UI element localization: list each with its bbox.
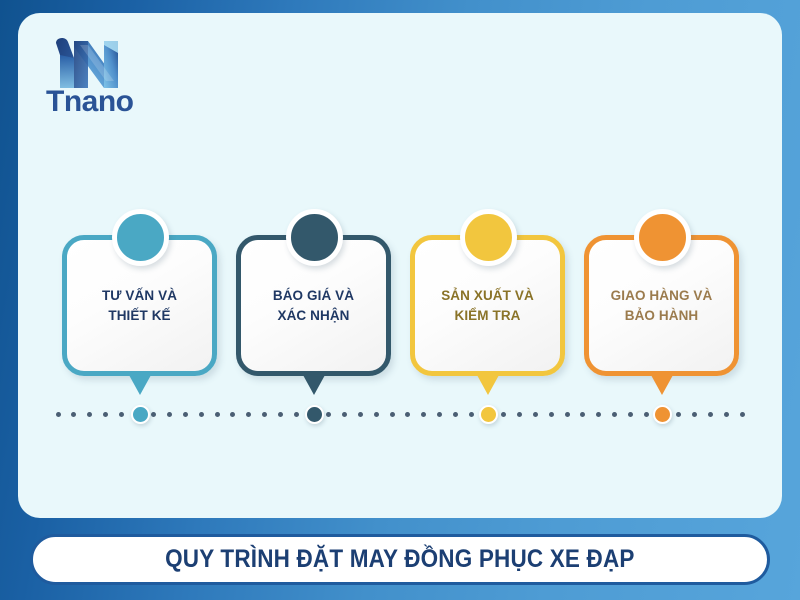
timeline-dot bbox=[278, 412, 283, 417]
timeline-dot bbox=[596, 412, 601, 417]
timeline-dot bbox=[183, 412, 188, 417]
timeline-dot bbox=[56, 412, 61, 417]
timeline-node-4[interactable] bbox=[653, 405, 672, 424]
steps-row: TƯ VẤN VÀ THIẾT KẾ BÁO GIÁ VÀ XÁC NHẬN S… bbox=[18, 13, 782, 518]
step-marker-circle-4 bbox=[634, 209, 691, 266]
timeline-dot bbox=[676, 412, 681, 417]
infographic-canvas: Tnano TƯ VẤN VÀ THIẾT KẾ BÁO GIÁ VÀ XÁC … bbox=[0, 0, 800, 600]
timeline-dot bbox=[644, 412, 649, 417]
timeline-dot bbox=[708, 412, 713, 417]
timeline-dot bbox=[469, 412, 474, 417]
timeline-dot bbox=[437, 412, 442, 417]
step-pointer-2 bbox=[303, 375, 325, 395]
step-card-2[interactable]: BÁO GIÁ VÀ XÁC NHẬN bbox=[236, 209, 391, 409]
timeline-dot bbox=[453, 412, 458, 417]
timeline-dot bbox=[326, 412, 331, 417]
step-label-3: SẢN XUẤT VÀ KIỂM TRA bbox=[422, 285, 553, 326]
step-card-4[interactable]: GIAO HÀNG VÀ BẢO HÀNH bbox=[584, 209, 739, 409]
timeline-node-3[interactable] bbox=[479, 405, 498, 424]
timeline-dot bbox=[580, 412, 585, 417]
timeline-dot bbox=[390, 412, 395, 417]
timeline-track bbox=[58, 406, 742, 424]
step-pointer-1 bbox=[129, 375, 151, 395]
step-label-2: BÁO GIÁ VÀ XÁC NHẬN bbox=[248, 285, 379, 326]
step-marker-circle-2 bbox=[286, 209, 343, 266]
timeline-dot bbox=[374, 412, 379, 417]
step-marker-circle-1 bbox=[112, 209, 169, 266]
timeline-dot bbox=[246, 412, 251, 417]
timeline-dot bbox=[405, 412, 410, 417]
step-label-4: GIAO HÀNG VÀ BẢO HÀNH bbox=[596, 285, 727, 326]
timeline-dot bbox=[692, 412, 697, 417]
timeline-dot bbox=[517, 412, 522, 417]
timeline-dot bbox=[724, 412, 729, 417]
timeline-dot bbox=[533, 412, 538, 417]
footer-title-text: QUY TRÌNH ĐẶT MAY ĐỒNG PHỤC XE ĐẠP bbox=[165, 545, 635, 574]
timeline-dot bbox=[628, 412, 633, 417]
timeline-dot bbox=[565, 412, 570, 417]
step-label-1: TƯ VẤN VÀ THIẾT KẾ bbox=[74, 285, 205, 326]
timeline-dot bbox=[71, 412, 76, 417]
step-card-1[interactable]: TƯ VẤN VÀ THIẾT KẾ bbox=[62, 209, 217, 409]
footer-title-bar: QUY TRÌNH ĐẶT MAY ĐỒNG PHỤC XE ĐẠP bbox=[30, 534, 770, 585]
timeline-dot bbox=[294, 412, 299, 417]
timeline-dot bbox=[740, 412, 745, 417]
timeline-dot bbox=[87, 412, 92, 417]
timeline-dot bbox=[612, 412, 617, 417]
timeline-dot bbox=[501, 412, 506, 417]
timeline-dot bbox=[549, 412, 554, 417]
timeline-dot bbox=[262, 412, 267, 417]
timeline-dot bbox=[167, 412, 172, 417]
main-panel: Tnano TƯ VẤN VÀ THIẾT KẾ BÁO GIÁ VÀ XÁC … bbox=[18, 13, 782, 518]
timeline-dot bbox=[119, 412, 124, 417]
step-card-3[interactable]: SẢN XUẤT VÀ KIỂM TRA bbox=[410, 209, 565, 409]
step-marker-circle-3 bbox=[460, 209, 517, 266]
timeline-dot bbox=[199, 412, 204, 417]
timeline-dot bbox=[230, 412, 235, 417]
step-pointer-4 bbox=[651, 375, 673, 395]
timeline-dot bbox=[358, 412, 363, 417]
timeline-dot bbox=[103, 412, 108, 417]
step-pointer-3 bbox=[477, 375, 499, 395]
timeline-dot bbox=[151, 412, 156, 417]
timeline-dot bbox=[342, 412, 347, 417]
timeline-dot bbox=[215, 412, 220, 417]
timeline-dot bbox=[421, 412, 426, 417]
timeline-node-1[interactable] bbox=[131, 405, 150, 424]
timeline-node-2[interactable] bbox=[305, 405, 324, 424]
